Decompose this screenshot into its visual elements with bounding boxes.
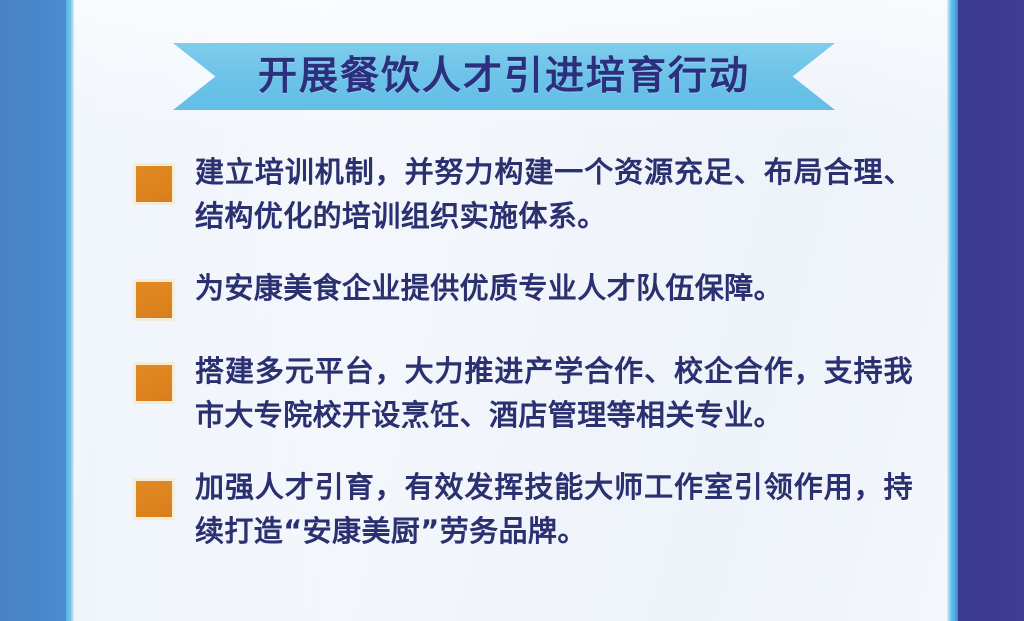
list-item-text: 为安康美食企业提供优质专业人才队伍保障。 <box>195 266 913 310</box>
left-accent-stripe <box>66 0 74 621</box>
right-decorative-band <box>958 0 1024 621</box>
list-item: 搭建多元平台，大力推进产学合作、校企合作，支持我市大专院校开设烹饪、酒店管理等相… <box>133 349 913 437</box>
list-item-text: 建立培训机制，并努力构建一个资源充足、布局合理、结构优化的培训组织实施体系。 <box>195 150 913 238</box>
list-item: 加强人才引育，有效发挥技能大师工作室引领作用，持续打造“安康美厨”劳务品牌。 <box>133 465 913 553</box>
list-item-text: 加强人才引育，有效发挥技能大师工作室引领作用，持续打造“安康美厨”劳务品牌。 <box>195 465 913 553</box>
list-item: 建立培训机制，并努力构建一个资源充足、布局合理、结构优化的培训组织实施体系。 <box>133 150 913 238</box>
list-item-text: 搭建多元平台，大力推进产学合作、校企合作，支持我市大专院校开设烹饪、酒店管理等相… <box>195 349 913 437</box>
page-title: 开展餐饮人才引进培育行动 <box>258 57 750 96</box>
orange-square-bullet-icon <box>133 163 175 205</box>
left-decorative-band <box>0 0 66 621</box>
list-item: 为安康美食企业提供优质专业人才队伍保障。 <box>133 266 913 321</box>
right-accent-stripe <box>947 0 958 621</box>
bullet-list: 建立培训机制，并努力构建一个资源充足、布局合理、结构优化的培训组织实施体系。 为… <box>133 150 913 553</box>
orange-square-bullet-icon <box>133 362 175 404</box>
orange-square-bullet-icon <box>133 478 175 520</box>
orange-square-bullet-icon <box>133 279 175 321</box>
title-ribbon-banner: 开展餐饮人才引进培育行动 <box>173 43 835 110</box>
infographic-poster: 开展餐饮人才引进培育行动 建立培训机制，并努力构建一个资源充足、布局合理、结构优… <box>0 0 1024 621</box>
